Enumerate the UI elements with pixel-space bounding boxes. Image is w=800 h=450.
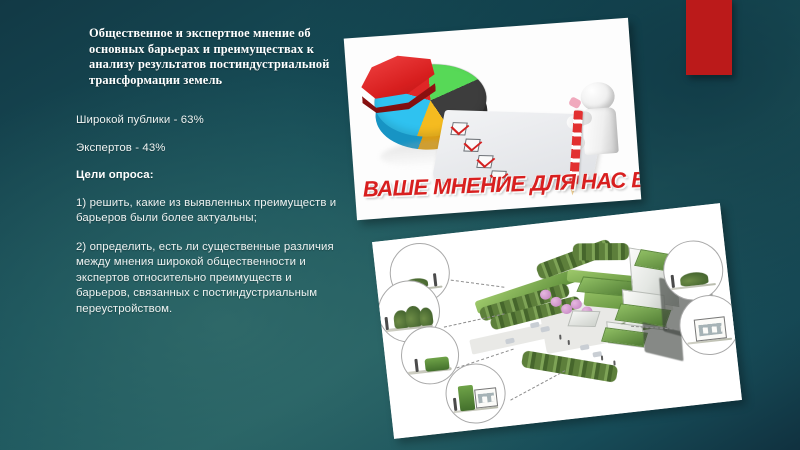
pie-slice-exploded-red: [359, 52, 437, 113]
checkbox-checked-icon: [450, 122, 467, 135]
callout-person-icon: [453, 398, 457, 411]
checkbox-checked-icon: [476, 155, 493, 168]
parked-car: [580, 344, 590, 351]
3d-person-figure: [562, 80, 630, 168]
survey-opinion-image: ВАШЕ МНЕНИЕ ДЛЯ НАС ВАЖНО!: [344, 18, 642, 220]
callout-building-icon: [694, 317, 727, 342]
callout-building-icon: [474, 387, 498, 409]
body-block: Широкой публики - 63% Экспертов - 43% Це…: [76, 112, 344, 317]
banner-headline: ВАШЕ МНЕНИЕ ДЛЯ НАС ВАЖНО!: [362, 168, 635, 201]
callout-person-icon: [384, 317, 388, 330]
pedestrian: [613, 360, 615, 365]
presentation-slide: Общественное и экспертное мнение об осно…: [0, 0, 800, 450]
survey-image-inner: ВАШЕ МНЕНИЕ ДЛЯ НАС ВАЖНО!: [344, 18, 642, 220]
pedestrian: [601, 355, 603, 360]
pedestrian: [568, 340, 570, 345]
callout-person-icon: [433, 273, 437, 286]
masterplan-inner: [372, 203, 742, 439]
accent-bar: [686, 0, 732, 75]
goal-item-1: 1) решить, какие из выявленных преимущес…: [76, 196, 344, 227]
callout-hedge-icon: [425, 357, 450, 372]
page-title: Общественное и экспертное мнение об осно…: [89, 26, 344, 88]
stat-experts-opinion: Экспертов - 43%: [76, 140, 344, 157]
callout-green-wall-icon: [457, 385, 475, 412]
tree-row-northeast: [573, 243, 629, 260]
goals-heading: Цели опроса:: [76, 167, 344, 184]
tree-row-south: [521, 350, 618, 383]
text-column: Общественное и экспертное мнение об осно…: [76, 26, 344, 330]
goal-item-2: 2) определить, есть ли существенные разл…: [76, 240, 344, 318]
checkbox-checked-icon: [463, 139, 480, 152]
building-annex: [567, 310, 600, 327]
pedestrian: [559, 335, 561, 340]
callout-person-icon: [670, 275, 674, 288]
masterplan-image: [372, 203, 742, 439]
callout-tree-icon: [418, 307, 433, 326]
callout-person-icon: [415, 358, 419, 371]
stat-public-opinion: Широкой публики - 63%: [76, 112, 344, 129]
